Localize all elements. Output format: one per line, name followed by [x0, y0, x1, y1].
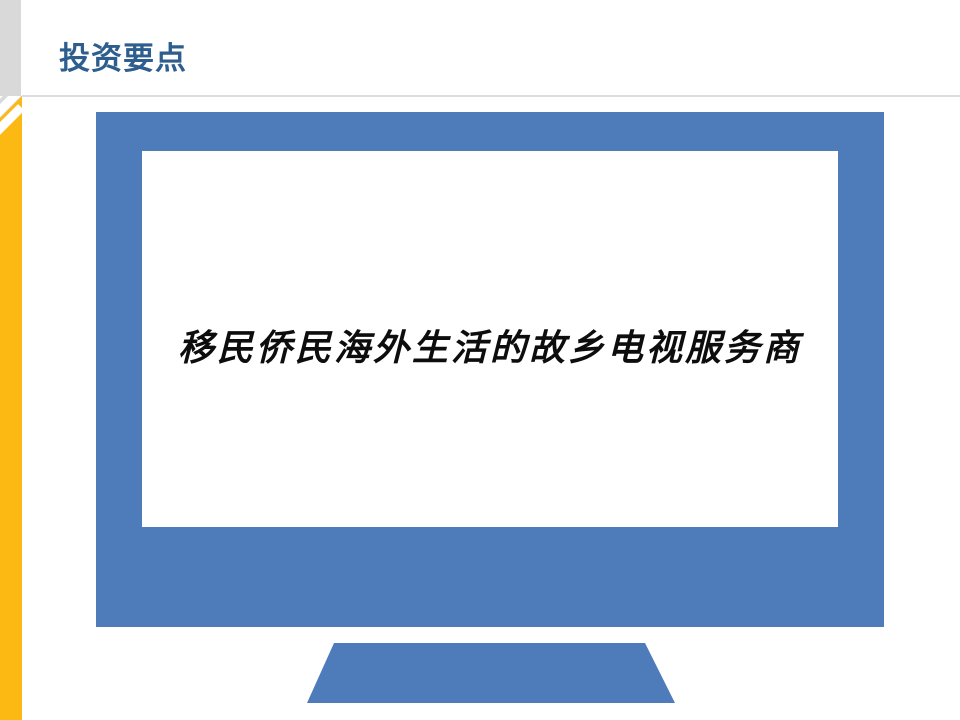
monitor-stand-shape [307, 643, 675, 703]
page-title: 投资要点 [59, 38, 187, 80]
header-divider [22, 95, 960, 97]
monitor-stand [307, 643, 675, 703]
monitor-screen: 移民侨民海外生活的故乡电视服务商 [142, 151, 838, 527]
left-accent-bar [0, 96, 22, 720]
header-gray-band [0, 0, 21, 96]
monitor-bezel: 移民侨民海外生活的故乡电视服务商 [96, 112, 884, 627]
slide-canvas: 投资要点 移民侨民海外生活的故乡电视服务商 [0, 0, 960, 720]
left-accent-bar-fill [0, 96, 22, 720]
monitor-screen-headline: 移民侨民海外生活的故乡电视服务商 [142, 319, 838, 371]
